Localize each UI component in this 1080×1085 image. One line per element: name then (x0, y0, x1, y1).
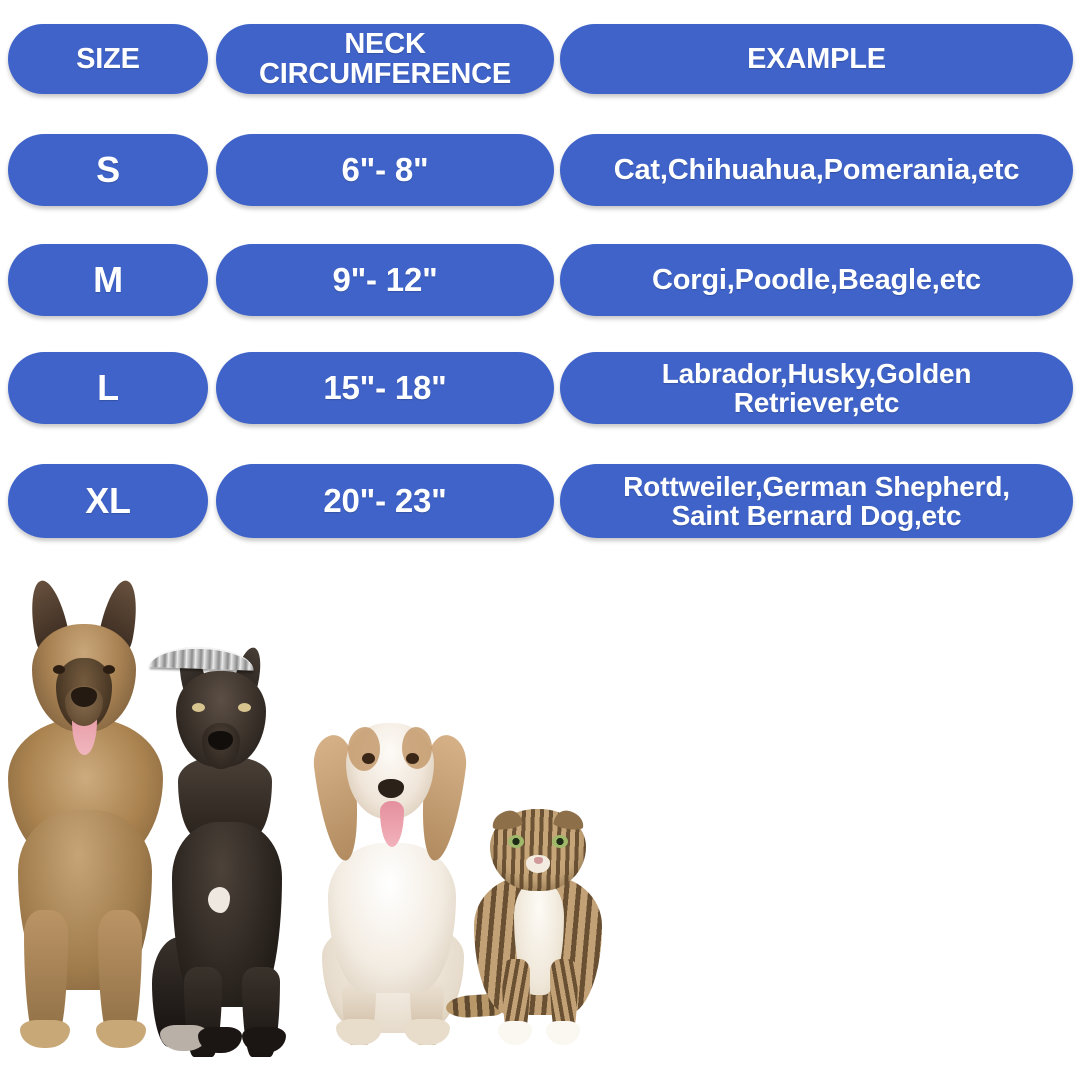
chain-collar-icon (150, 645, 255, 671)
example-value: Corgi,Poodle,Beagle,etc (652, 265, 981, 295)
size-chart-page: SIZE NECK CIRCUMFERENCE EXAMPLE S 6"- 8"… (0, 0, 1080, 1085)
black-dog-with-chain-collar (150, 647, 330, 1052)
table-row: XL 20"- 23" Rottweiler,German Shepherd, … (0, 464, 1080, 538)
header-cell-example: EXAMPLE (560, 24, 1073, 94)
size-label: XL (85, 482, 131, 519)
cell-size-xl: XL (8, 464, 208, 538)
pets-group-image (0, 565, 620, 1085)
cell-neck-xl: 20"- 23" (216, 464, 554, 538)
header-label-neck-line2: CIRCUMFERENCE (259, 58, 511, 90)
blackdog-right-paw (242, 1027, 286, 1053)
cell-size-m: M (8, 244, 208, 316)
header-label-neck: NECK CIRCUMFERENCE (259, 29, 511, 89)
neck-value: 6"- 8" (342, 153, 429, 187)
gsd-left-paw (20, 1020, 70, 1048)
blackdog-chest-spot (208, 887, 230, 913)
cell-neck-s: 6"- 8" (216, 134, 554, 206)
cat-right-eye (552, 835, 568, 848)
header-cell-size: SIZE (8, 24, 208, 94)
example-value: Labrador,Husky,Golden Retriever,etc (662, 359, 972, 418)
blackdog-middle-paw (198, 1027, 242, 1053)
example-value-line1: Labrador,Husky,Golden (662, 358, 972, 389)
pets-photo (0, 565, 1080, 1085)
spaniel-left-eye (362, 753, 375, 764)
neck-value: 15"- 18" (323, 371, 446, 405)
table-header-row: SIZE NECK CIRCUMFERENCE EXAMPLE (0, 24, 1080, 94)
cat-left-eye (508, 835, 524, 848)
spaniel-right-patch (402, 727, 432, 769)
table-row: S 6"- 8" Cat,Chihuahua,Pomerania,etc (0, 134, 1080, 206)
cell-size-s: S (8, 134, 208, 206)
example-value-line1: Rottweiler,German Shepherd, (623, 471, 1010, 502)
size-label: L (97, 369, 119, 406)
cell-example-l: Labrador,Husky,Golden Retriever,etc (560, 352, 1073, 424)
table-row: M 9"- 12" Corgi,Poodle,Beagle,etc (0, 244, 1080, 316)
cell-neck-m: 9"- 12" (216, 244, 554, 316)
example-value-line2: Retriever,etc (734, 387, 900, 418)
cat-right-paw (546, 1021, 580, 1045)
cell-example-s: Cat,Chihuahua,Pomerania,etc (560, 134, 1073, 206)
blackdog-right-eye (238, 703, 251, 712)
gsd-left-eye (53, 665, 65, 674)
spaniel-chest (328, 843, 456, 993)
size-chart-table: SIZE NECK CIRCUMFERENCE EXAMPLE S 6"- 8"… (0, 0, 1080, 560)
gsd-right-paw (96, 1020, 146, 1048)
spaniel-right-paw (404, 1019, 450, 1045)
cell-example-m: Corgi,Poodle,Beagle,etc (560, 244, 1073, 316)
table-row: L 15"- 18" Labrador,Husky,Golden Retriev… (0, 352, 1080, 424)
size-label: S (96, 151, 120, 188)
example-value-line2: Saint Bernard Dog,etc (672, 500, 962, 531)
header-label-neck-line1: NECK (344, 28, 425, 60)
cat-nose (534, 857, 543, 864)
header-label-size: SIZE (76, 44, 140, 74)
spaniel-right-eye (406, 753, 419, 764)
neck-value: 9"- 12" (332, 263, 437, 297)
scottish-fold-tabby-cat (468, 809, 612, 1054)
cell-neck-l: 15"- 18" (216, 352, 554, 424)
spaniel-left-paw (336, 1019, 382, 1045)
cell-size-l: L (8, 352, 208, 424)
header-cell-neck-circumference: NECK CIRCUMFERENCE (216, 24, 554, 94)
example-value: Rottweiler,German Shepherd, Saint Bernar… (623, 472, 1010, 531)
example-value: Cat,Chihuahua,Pomerania,etc (614, 155, 1020, 185)
cell-example-xl: Rottweiler,German Shepherd, Saint Bernar… (560, 464, 1073, 538)
neck-value: 20"- 23" (323, 484, 446, 518)
gsd-right-eye (103, 665, 115, 674)
blackdog-left-eye (192, 703, 205, 712)
spaniel-left-patch (348, 727, 380, 771)
cat-left-paw (498, 1021, 532, 1045)
spaniel-tongue (380, 801, 404, 847)
size-label: M (93, 261, 123, 298)
header-label-example: EXAMPLE (747, 44, 886, 74)
